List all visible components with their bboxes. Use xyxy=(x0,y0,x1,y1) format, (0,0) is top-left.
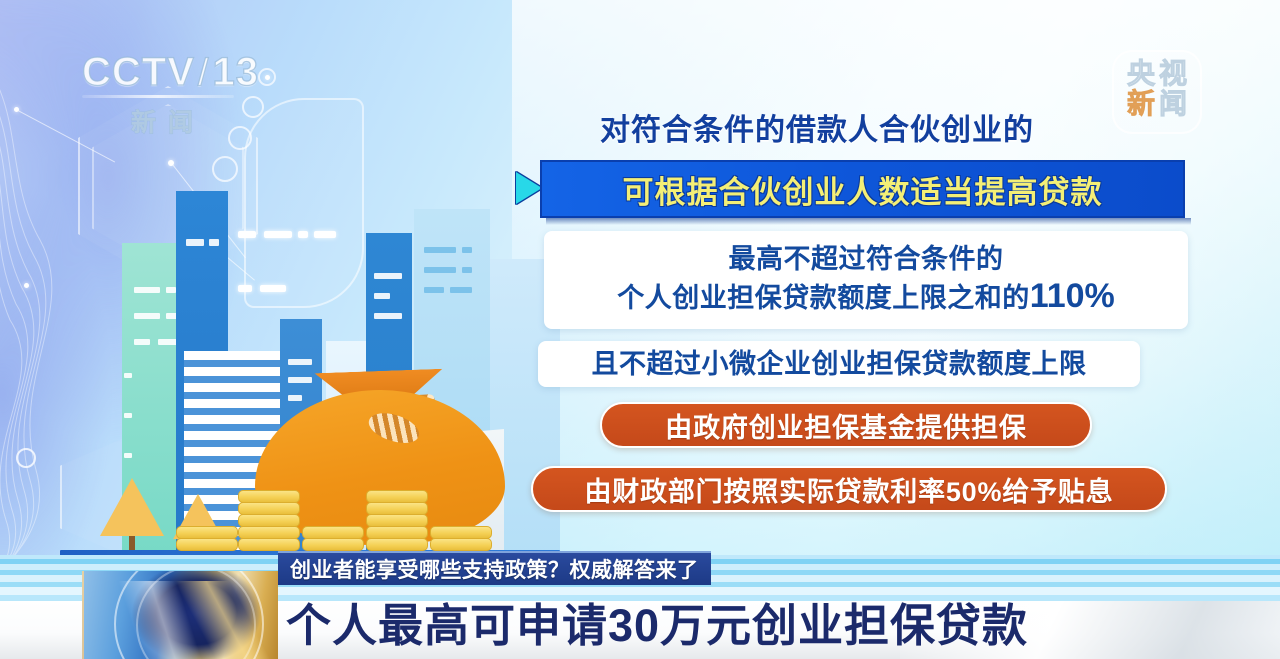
coin-stack-4 xyxy=(366,490,428,550)
policy-pill-subsidy-text: 由财政部门按照实际贷款利率50%给予贴息 xyxy=(584,470,1113,509)
highlight-bar-container: 可根据合伙创业人数适当提高贷款 xyxy=(540,160,1185,218)
coin xyxy=(302,538,364,551)
skyline-bar-2 xyxy=(264,231,292,238)
coin-stack-1 xyxy=(176,526,238,550)
cctv-logo-main: CCTV / 13 xyxy=(82,52,242,92)
highlight-bar-text: 可根据合伙创业人数适当提高贷款 xyxy=(623,167,1103,212)
coin-stack-5 xyxy=(430,526,492,550)
coin xyxy=(366,538,428,551)
coin xyxy=(238,538,300,551)
policy-card-a-line2: 个人创业担保贷款额度上限之和的110% xyxy=(617,276,1115,317)
cctv13-logo: CCTV / 13 新闻 xyxy=(82,52,242,134)
policy-card-b-line1: 且不超过小微企业创业担保贷款额度上限 xyxy=(592,348,1087,381)
app-badge-row-1: 央 视 xyxy=(1120,59,1194,89)
tree-left xyxy=(100,478,164,550)
skyline-bar-5 xyxy=(238,285,252,292)
cctv-news-app-badge: 央 视 新 闻 xyxy=(1112,50,1202,134)
app-badge-char-wen: 闻 xyxy=(1159,89,1187,119)
tree-trunk xyxy=(129,536,135,550)
policy-pill-guarantee-text: 由政府创业担保基金提供担保 xyxy=(665,406,1026,445)
coin-stack-3 xyxy=(302,526,364,550)
lower-third-kicker: 创业者能享受哪些支持政策？权威解答来了 xyxy=(278,551,711,585)
cctv-logo-text: CCTV xyxy=(82,52,195,92)
background-dot-1 xyxy=(265,75,270,80)
app-badge-char-shi: 视 xyxy=(1159,59,1187,89)
policy-pill-subsidy: 由财政部门按照实际贷款利率50%给予贴息 xyxy=(531,466,1167,512)
skyline-bar-4 xyxy=(314,231,336,238)
lower-third-kicker-text: 创业者能享受哪些支持政策？权威解答来了 xyxy=(290,554,699,584)
highlight-bar-shadow xyxy=(546,218,1191,225)
policy-card-a-percentage: 110% xyxy=(1030,277,1115,315)
coin xyxy=(176,538,238,551)
arrow-pointer-icon xyxy=(516,172,542,204)
lower-third: 创业者能享受哪些支持政策？权威解答来了 个人最高可申请30万元创业担保贷款 xyxy=(0,555,1280,659)
policy-card-a-line2-text: 个人创业担保贷款额度上限之和的 xyxy=(617,283,1030,313)
policy-card-b: 且不超过小微企业创业担保贷款额度上限 xyxy=(538,341,1140,387)
coin-stack-2 xyxy=(238,490,300,550)
skyline-bar-1 xyxy=(238,231,256,238)
broadcast-frame: CCTV / 13 新闻 央 视 新 闻 xyxy=(0,0,1280,659)
cctv-logo-slash: / xyxy=(198,54,210,92)
lower-third-title: 个人最高可申请30万元创业担保贷款 xyxy=(286,589,1028,654)
app-badge-row-2: 新 闻 xyxy=(1120,89,1194,119)
skyline-bar-3 xyxy=(298,231,308,238)
policy-pill-guarantee: 由政府创业担保基金提供担保 xyxy=(600,402,1092,448)
skyline-bar-6 xyxy=(260,285,286,292)
highlight-bar: 可根据合伙创业人数适当提高贷款 xyxy=(540,160,1185,218)
policy-card-a-line1: 最高不超过符合条件的 xyxy=(729,243,1004,276)
cctv-logo-underline xyxy=(82,95,234,98)
content-headline: 对符合条件的借款人合伙创业的 xyxy=(600,105,1034,149)
coin xyxy=(430,538,492,551)
background-circle-2 xyxy=(242,96,264,118)
cctv-logo-subtitle: 新闻 xyxy=(82,103,242,139)
finance-illustration xyxy=(0,139,560,559)
policy-card-a: 最高不超过符合条件的 个人创业担保贷款额度上限之和的110% xyxy=(544,231,1188,329)
app-badge-char-yang: 央 xyxy=(1127,59,1155,89)
tree-canopy xyxy=(100,478,164,536)
cctv-logo-number: 13 xyxy=(212,52,259,92)
studio-thumbnail xyxy=(82,571,278,659)
app-badge-char-xin: 新 xyxy=(1127,89,1155,119)
studio-thumbnail-arc-2 xyxy=(136,571,256,659)
